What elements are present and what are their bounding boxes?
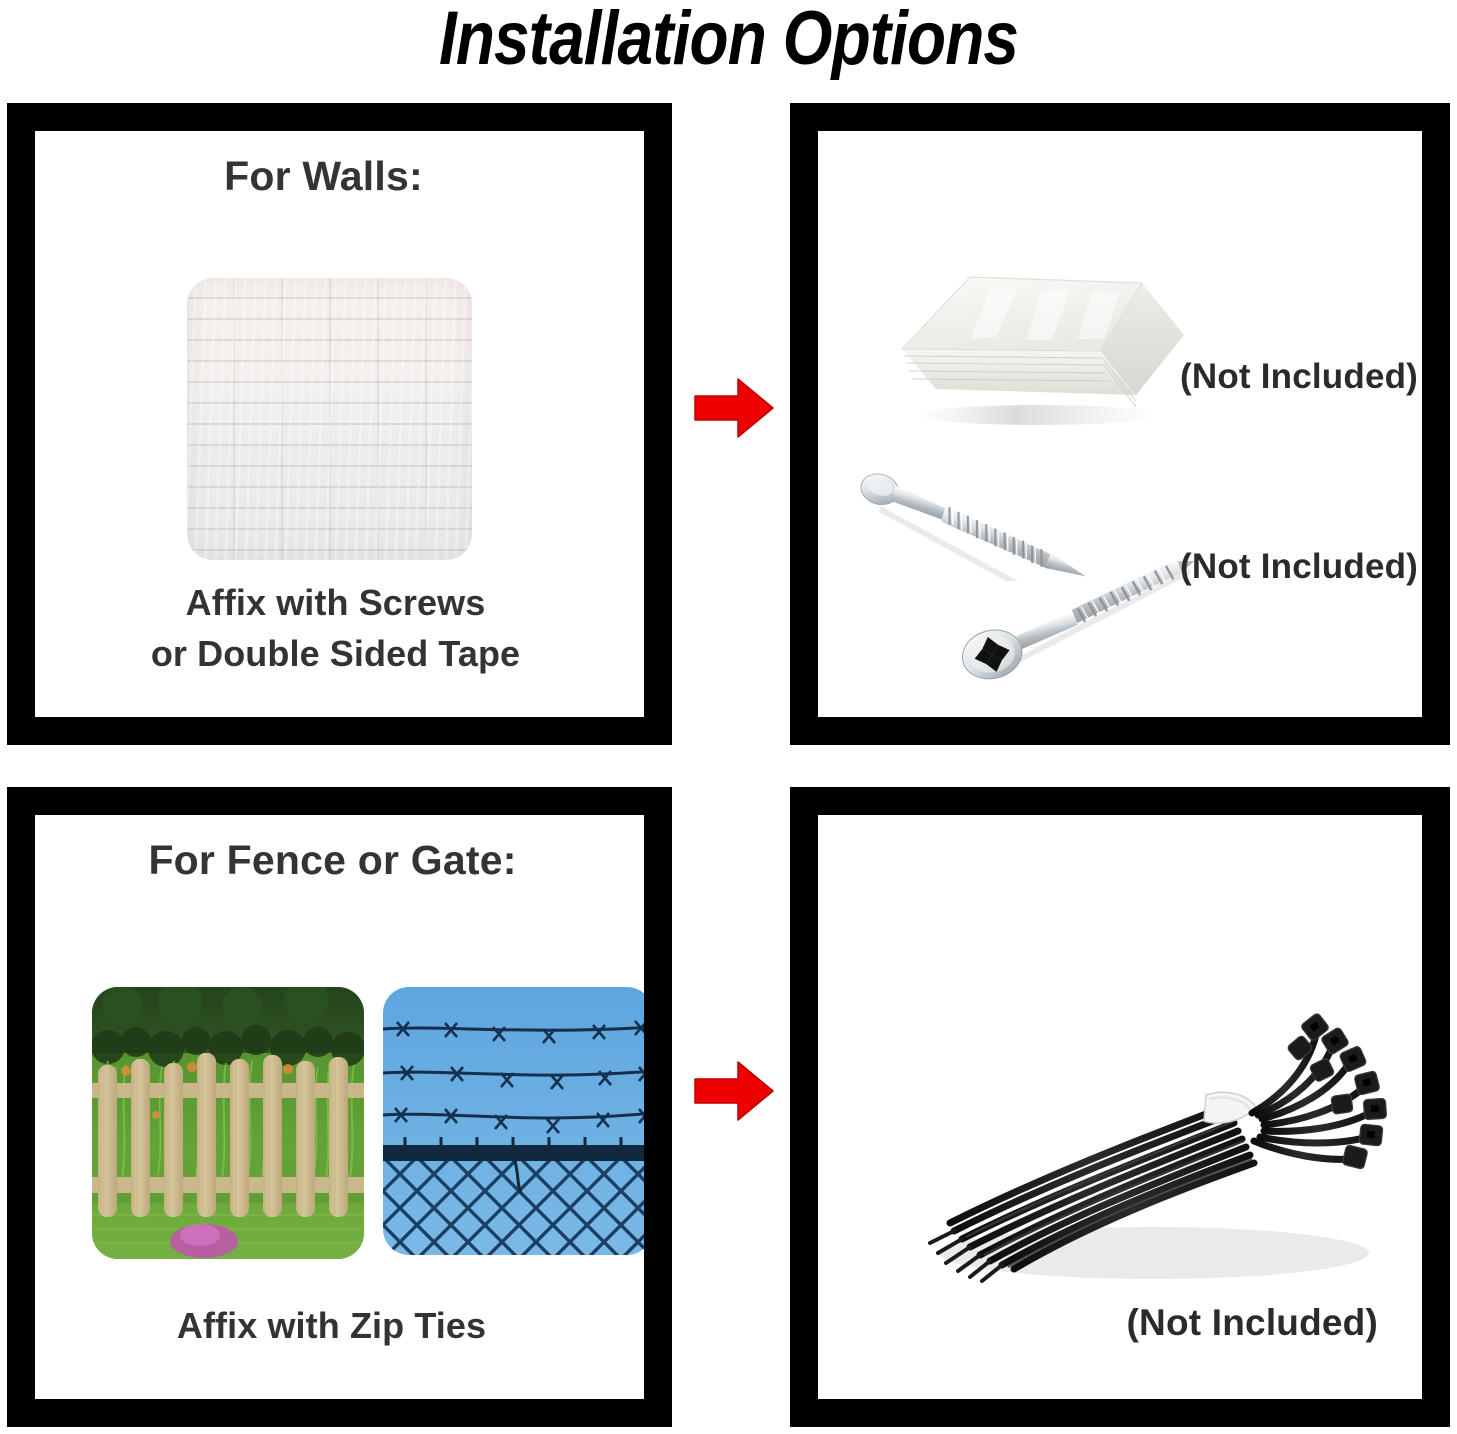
red-arrow-right-icon-bottom — [693, 1060, 775, 1122]
page-title: Installation Options — [117, 0, 1341, 81]
double-sided-tape-stack-image — [884, 255, 1194, 430]
panel-for-fence-or-gate: For Fence or Gate: — [7, 787, 672, 1427]
note-not-included-zip-ties: (Not Included) — [1127, 1302, 1378, 1344]
wooden-picket-fence-photo — [92, 987, 364, 1259]
panel-wall-hardware: (Not Included) — [790, 103, 1450, 745]
red-arrow-right-icon-top — [693, 377, 775, 439]
note-not-included-tape: (Not Included) — [1180, 357, 1418, 397]
note-not-included-screws: (Not Included) — [1180, 547, 1418, 587]
panel-for-walls: For Walls: Affix with Screws or Double S… — [7, 103, 672, 745]
caption-line-1: Affix with Zip Ties — [35, 1300, 644, 1351]
chain-link-barbed-wire-photo — [383, 987, 644, 1255]
panel-zip-ties: (Not Included) — [790, 787, 1450, 1427]
white-brick-wall-image — [187, 278, 472, 560]
panel-for-fence-heading: For Fence or Gate: — [35, 837, 644, 884]
panel-for-walls-heading: For Walls: — [35, 153, 644, 200]
panel-zip-ties-inner: (Not Included) — [818, 815, 1422, 1399]
panel-for-walls-inner: For Walls: Affix with Screws or Double S… — [35, 131, 644, 717]
caption-line-2: or Double Sided Tape — [35, 628, 644, 679]
black-zip-tie-bundle-image — [854, 943, 1422, 1343]
panel-for-fence-or-gate-inner: For Fence or Gate: — [35, 815, 644, 1399]
panel-wall-hardware-inner: (Not Included) — [818, 131, 1422, 717]
panel-for-fence-caption: Affix with Zip Ties — [35, 1300, 644, 1351]
caption-line-1: Affix with Screws — [35, 577, 644, 628]
panel-for-walls-caption: Affix with Screws or Double Sided Tape — [35, 577, 644, 679]
